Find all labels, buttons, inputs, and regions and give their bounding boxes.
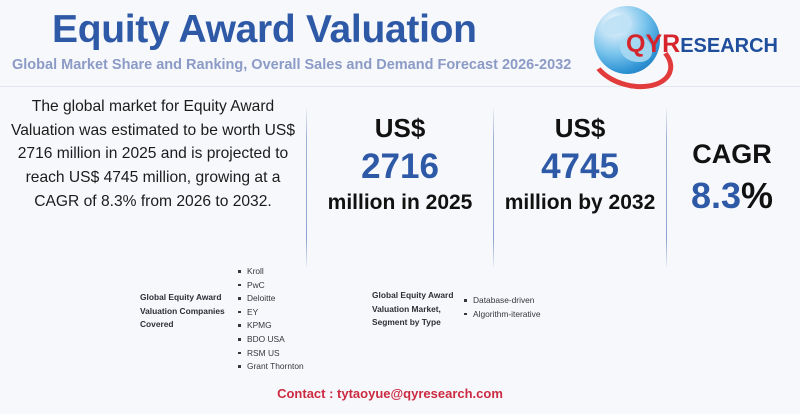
infographic-root: Equity Award Valuation Global Market Sha… [0, 0, 800, 414]
divider-2 [493, 109, 494, 267]
list-item: Algorithm-iterative [464, 308, 541, 322]
list-item: KPMG [238, 319, 304, 333]
stat-market-size-2032: US$ 4745 million by 2032 [497, 113, 663, 216]
list-item: Database-driven [464, 294, 541, 308]
stat-cagr: CAGR 8.3% [668, 139, 796, 217]
companies-covered-heading: Global Equity Award Valuation Companies … [140, 291, 236, 332]
stat-cagr-number: 8.3 [691, 175, 741, 216]
market-summary-text: The global market for Equity Award Valua… [6, 95, 300, 213]
stat-market-size-2025: US$ 2716 million in 2025 [310, 113, 490, 216]
stat-currency-label: US$ [310, 113, 490, 144]
stat-caption: million by 2032 [497, 191, 663, 216]
detail-lists: Global Equity Award Valuation Companies … [0, 265, 800, 375]
stat-value: 4745 [497, 146, 663, 187]
stat-caption: million in 2025 [310, 191, 490, 216]
stats-row: The global market for Equity Award Valua… [0, 87, 800, 265]
list-item: Deloitte [238, 292, 304, 306]
logo-word-text: ESEARCH [680, 35, 778, 57]
header: Equity Award Valuation Global Market Sha… [0, 0, 800, 87]
list-item: Kroll [238, 265, 304, 279]
stat-cagr-unit: % [741, 175, 773, 216]
logo-wordmark: QYRESEARCH [626, 32, 778, 57]
stat-value: 2716 [310, 146, 490, 187]
segment-by-type-list: Database-driven Algorithm-iterative [464, 294, 541, 321]
divider-3 [666, 109, 667, 267]
brand-logo: QYRESEARCH [588, 4, 788, 80]
page-subtitle: Global Market Share and Ranking, Overall… [12, 57, 571, 73]
segment-by-type-heading: Global Equity Award Valuation Market, Se… [372, 289, 468, 330]
contact-line: Contact : tytaoyue@qyresearch.com [0, 386, 800, 401]
divider-1 [306, 109, 307, 267]
list-item: Grant Thornton [238, 360, 304, 374]
page-title: Equity Award Valuation [52, 8, 477, 52]
list-item: PwC [238, 279, 304, 293]
list-item: BDO USA [238, 333, 304, 347]
companies-covered-list: Kroll PwC Deloitte EY KPMG BDO USA RSM U… [238, 265, 304, 374]
logo-mark-text: QYR [626, 30, 680, 58]
stat-cagr-label: CAGR [668, 139, 796, 171]
stat-cagr-value: 8.3% [668, 175, 796, 217]
list-item: EY [238, 306, 304, 320]
list-item: RSM US [238, 347, 304, 361]
stat-currency-label: US$ [497, 113, 663, 144]
